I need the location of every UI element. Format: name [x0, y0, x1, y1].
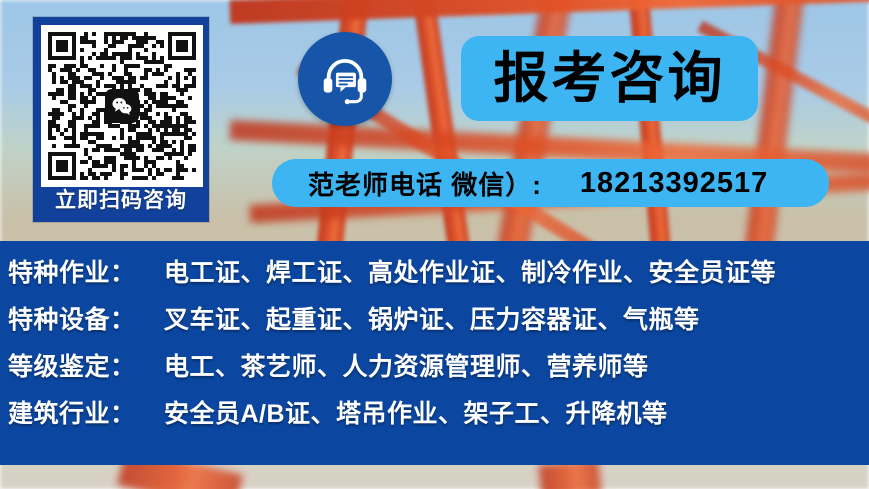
category-items: 叉车证、起重证、锅炉证、压力容器证、气瓶等: [164, 300, 700, 336]
category-row: 等级鉴定： 电工、茶艺师、人力资源管理师、营养师等: [0, 347, 869, 394]
category-row: 特种设备： 叉车证、起重证、锅炉证、压力容器证、气瓶等: [0, 300, 869, 347]
qr-caption: 立即扫码咨询: [36, 185, 206, 217]
headset-support-icon: [298, 32, 392, 126]
category-items: 电工证、焊工证、高处作业证、制冷作业、安全员证等: [164, 253, 776, 289]
category-row: 特种作业： 电工证、焊工证、高处作业证、制冷作业、安全员证等: [0, 253, 869, 300]
headline-banner: 报考咨询: [461, 36, 758, 121]
promotional-poster: 立即扫码咨询 报考咨询 范老师电话 微信）: 18213392517 特种作业：…: [0, 0, 869, 489]
category-label: 建筑行业：: [8, 394, 158, 430]
contact-phone-bar[interactable]: 范老师电话 微信）: 18213392517: [272, 159, 829, 207]
category-label: 特种作业：: [8, 253, 158, 289]
category-label: 等级鉴定：: [8, 347, 158, 383]
qr-code-image[interactable]: [41, 25, 203, 187]
phone-label: 范老师电话 微信）:: [308, 165, 542, 202]
qr-matrix: [48, 32, 196, 180]
category-items: 安全员A/B证、塔吊作业、架子工、升降机等: [164, 394, 668, 430]
wechat-icon: [105, 89, 139, 123]
headline-text: 报考咨询: [493, 51, 725, 106]
phone-number[interactable]: 18213392517: [580, 167, 768, 200]
category-label: 特种设备：: [8, 300, 158, 336]
category-items: 电工、茶艺师、人力资源管理师、营养师等: [164, 347, 649, 383]
certificate-category-panel: 特种作业： 电工证、焊工证、高处作业证、制冷作业、安全员证等 特种设备： 叉车证…: [0, 241, 869, 465]
qr-code-card[interactable]: 立即扫码咨询: [33, 17, 209, 222]
category-row: 建筑行业： 安全员A/B证、塔吊作业、架子工、升降机等: [0, 394, 869, 441]
